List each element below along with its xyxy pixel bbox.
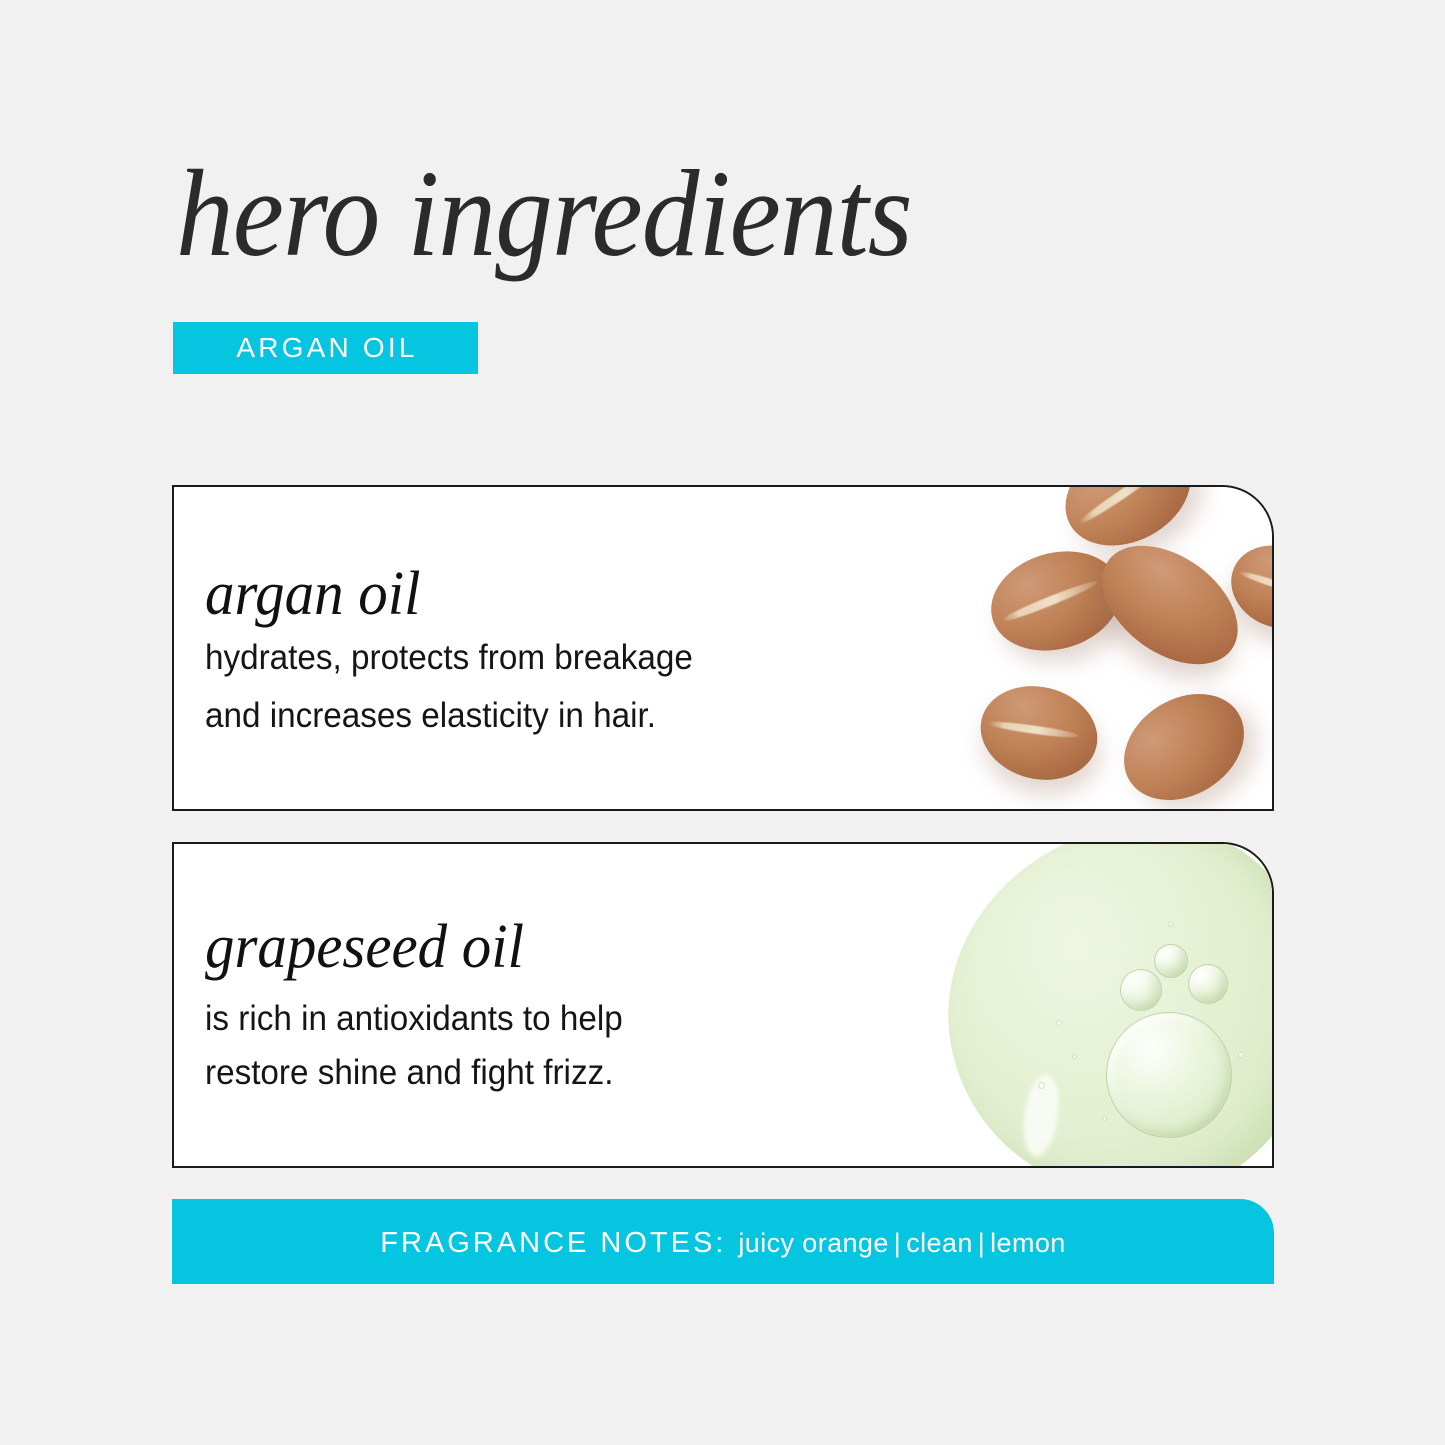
micro-bubble-icon — [1238, 1052, 1244, 1058]
oil-bubble-icon — [1154, 944, 1188, 978]
argan-card-body-line-2: and increases elasticity in hair. — [205, 690, 693, 742]
micro-bubble-icon — [1102, 1116, 1107, 1121]
argan-nut-icon — [1080, 521, 1259, 688]
ingredients-panel: hero ingredients ARGAN OIL argan oil hyd… — [0, 0, 1445, 1445]
oil-bubble-icon — [1106, 1012, 1232, 1138]
argan-card-body-line-1: hydrates, protects from breakage — [205, 632, 693, 684]
grapeseed-card-body-line-1: is rich in antioxidants to help — [205, 993, 623, 1045]
grapeseed-card-body-line-2: restore shine and fight frizz. — [205, 1047, 623, 1099]
argan-nuts-image — [942, 487, 1272, 809]
oil-bubble-icon — [1188, 964, 1228, 1004]
micro-bubble-icon — [1168, 922, 1173, 927]
fragrance-note-separator: | — [973, 1228, 990, 1258]
micro-bubble-icon — [1072, 1054, 1077, 1059]
ingredient-badge-label: ARGAN OIL — [233, 334, 417, 362]
fragrance-note-3: lemon — [990, 1228, 1066, 1258]
fragrance-notes-content: FRAGRANCE NOTES: juicy orange|clean|lemo… — [380, 1227, 1065, 1260]
argan-nut-icon — [1104, 672, 1263, 809]
micro-bubble-icon — [1038, 1082, 1045, 1089]
grapeseed-card-heading: grapeseed oil — [205, 916, 623, 979]
fragrance-notes-bar: FRAGRANCE NOTES: juicy orange|clean|lemo… — [172, 1199, 1274, 1284]
micro-bubble-icon — [1056, 1020, 1062, 1026]
page-title: hero ingredients — [176, 152, 912, 276]
fragrance-note-separator: | — [889, 1228, 906, 1258]
fragrance-note-2: clean — [906, 1228, 973, 1258]
fragrance-note-1: juicy orange — [738, 1228, 888, 1258]
argan-card-text: argan oil hydrates, protects from breaka… — [205, 563, 719, 742]
ingredient-badge: ARGAN OIL — [173, 322, 478, 374]
argan-card-heading: argan oil — [205, 563, 693, 626]
grapeseed-card-text: grapeseed oil is rich in antioxidants to… — [205, 916, 645, 1099]
fragrance-notes-label: FRAGRANCE NOTES: — [380, 1227, 726, 1260]
ingredient-card-grapeseed-oil: grapeseed oil is rich in antioxidants to… — [172, 842, 1274, 1168]
grapeseed-oil-image — [942, 844, 1272, 1166]
ingredient-card-argan-oil: argan oil hydrates, protects from breaka… — [172, 485, 1274, 811]
fragrance-notes-values: juicy orange|clean|lemon — [738, 1228, 1065, 1259]
oil-bubble-icon — [1120, 969, 1162, 1011]
gel-droplet-shape — [942, 844, 1272, 1166]
argan-nut-icon — [971, 674, 1108, 792]
